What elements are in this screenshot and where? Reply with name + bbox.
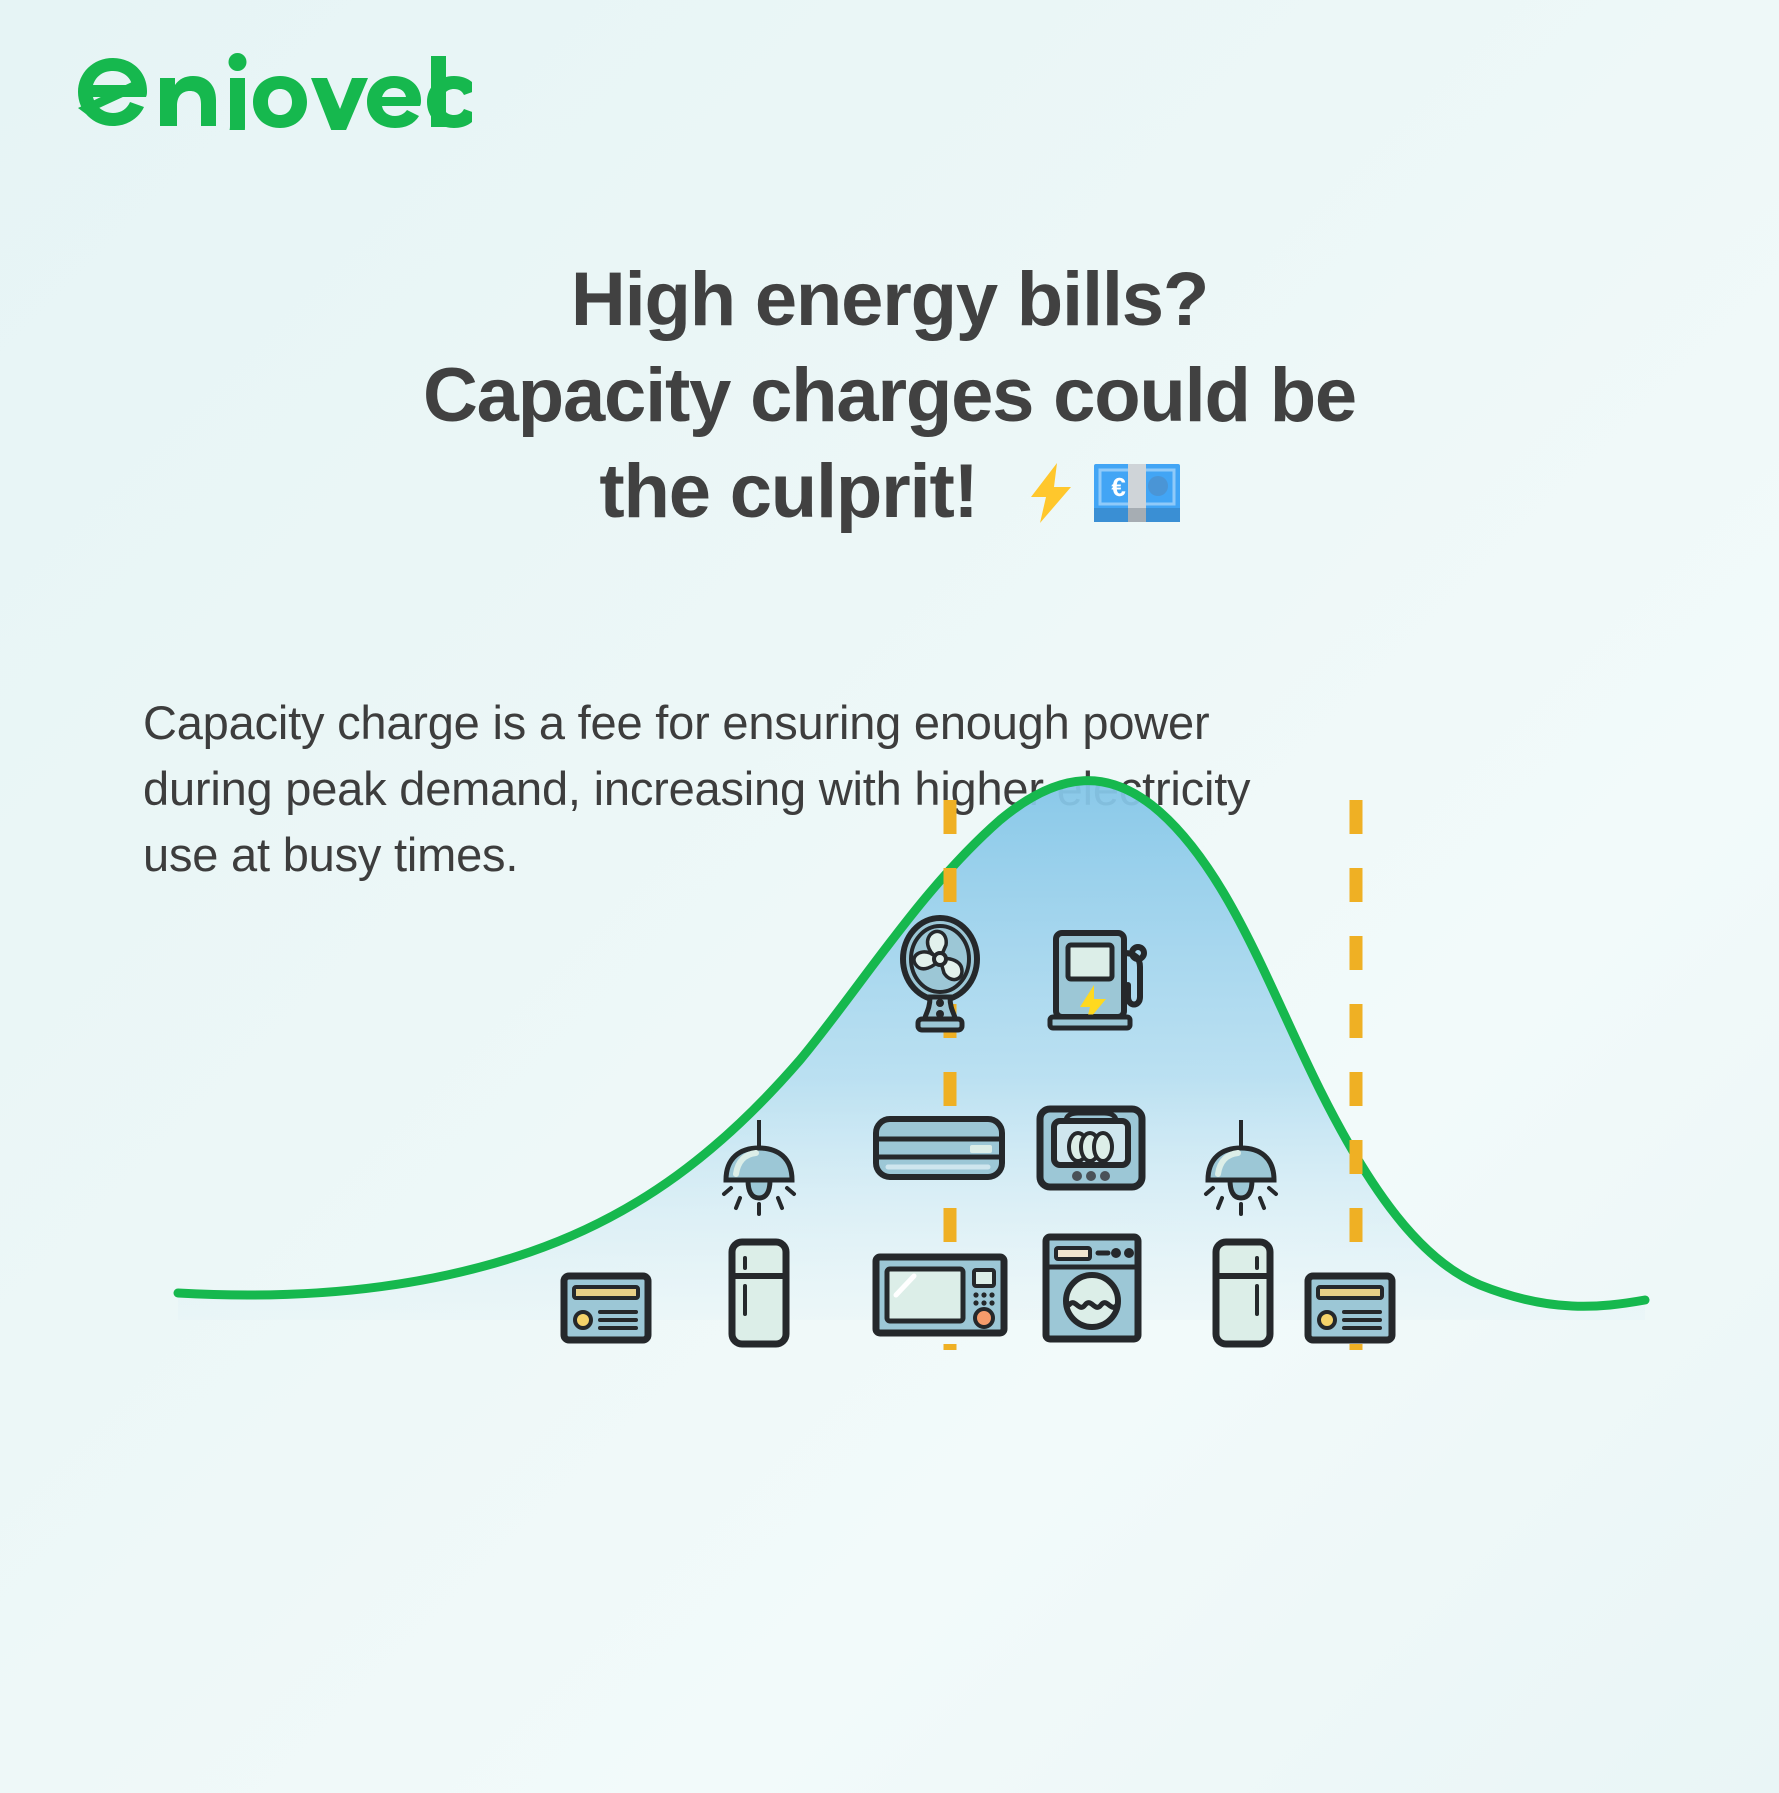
brand-logo[interactable] (72, 52, 472, 130)
title-line-3: the culprit! (599, 449, 977, 534)
description-line-1: Capacity charge is a fee for ensuring en… (143, 690, 1463, 756)
title-emoji-group: € (1024, 461, 1180, 525)
svg-text:€: € (1111, 472, 1125, 502)
demand-curve-chart (0, 760, 1779, 1400)
euro-banknote-emoji: € (1094, 464, 1180, 522)
title-line-3-wrapper: the culprit! € (0, 444, 1779, 540)
page-title: High energy bills? Capacity charges coul… (0, 252, 1779, 539)
infographic-canvas: High energy bills? Capacity charges coul… (0, 0, 1779, 1793)
high-voltage-lightning-emoji (1024, 461, 1078, 525)
title-line-1: High energy bills? (0, 252, 1779, 348)
enjoyelec-wordmark-icon (72, 52, 472, 130)
title-line-2: Capacity charges could be (0, 348, 1779, 444)
demand-area-fill (178, 781, 1645, 1320)
